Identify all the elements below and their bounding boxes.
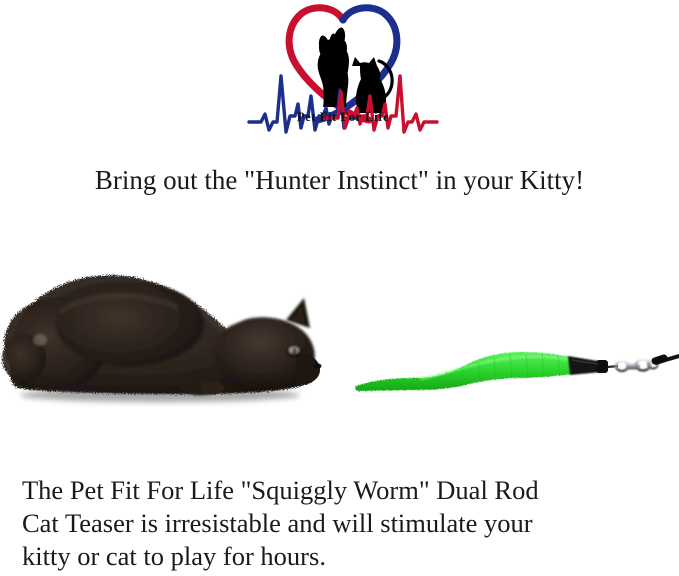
worm-ferrule	[596, 360, 608, 373]
product-photo-area	[0, 262, 679, 440]
description-line-2: Cat Teaser is irresistable and will stim…	[22, 507, 642, 540]
kitten-photo	[0, 262, 350, 440]
kitten-paw-toes	[200, 382, 224, 395]
product-description: The Pet Fit For Life "Squiggly Worm" Dua…	[22, 474, 642, 573]
description-line-1: The Pet Fit For Life "Squiggly Worm" Dua…	[22, 474, 642, 507]
cord-collar	[655, 358, 664, 361]
kitten-rump-highlight	[33, 334, 47, 346]
kitten-eye	[287, 346, 302, 357]
kitten-nose	[315, 363, 322, 368]
logo-wordmark: Pet Fit For Life	[243, 110, 443, 124]
page-headline: Bring out the "Hunter Instinct" in your …	[0, 163, 679, 197]
worm-toy-photo	[350, 334, 679, 404]
description-line-3: kitty or cat to play for hours.	[22, 540, 642, 573]
